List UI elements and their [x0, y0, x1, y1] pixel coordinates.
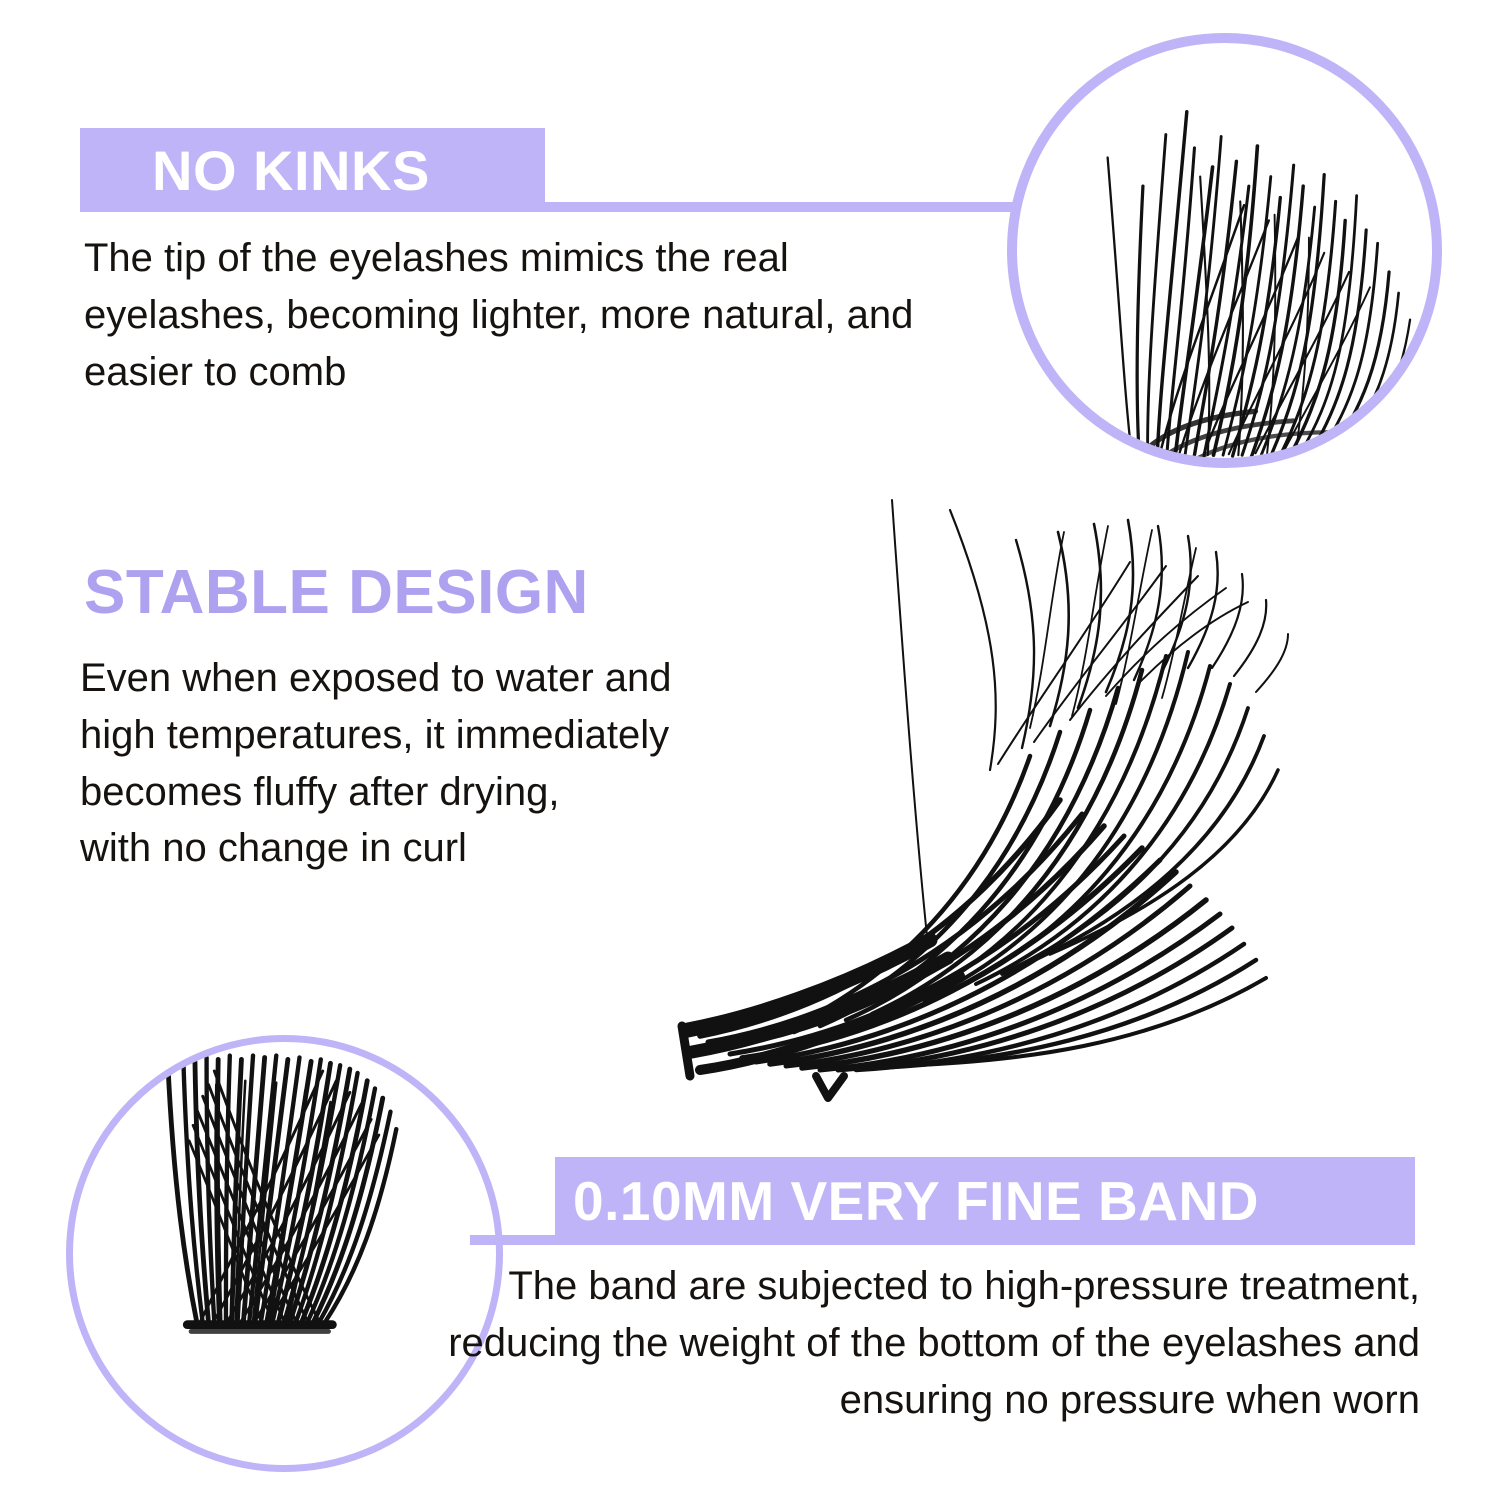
connector-line-bottom: [470, 1235, 565, 1245]
circle-lash-tips: [1007, 33, 1442, 468]
body-fine-band: The band are subjected to high-pressure …: [430, 1258, 1420, 1428]
product-infographic: NO KINKS The tip of the eyelashes mimics…: [0, 0, 1500, 1500]
heading-no-kinks: NO KINKS: [152, 138, 430, 203]
connector-line-top: [545, 202, 1015, 212]
banner-fine-band: 0.10MM VERY FINE BAND: [555, 1157, 1415, 1245]
body-no-kinks: The tip of the eyelashes mimics the real…: [84, 230, 964, 400]
main-eyelash-illustration: [630, 470, 1310, 1110]
heading-stable-design: STABLE DESIGN: [84, 557, 589, 628]
lash-tips-illustration: [1017, 43, 1432, 458]
banner-no-kinks: NO KINKS: [80, 128, 545, 212]
heading-fine-band: 0.10MM VERY FINE BAND: [573, 1169, 1259, 1233]
